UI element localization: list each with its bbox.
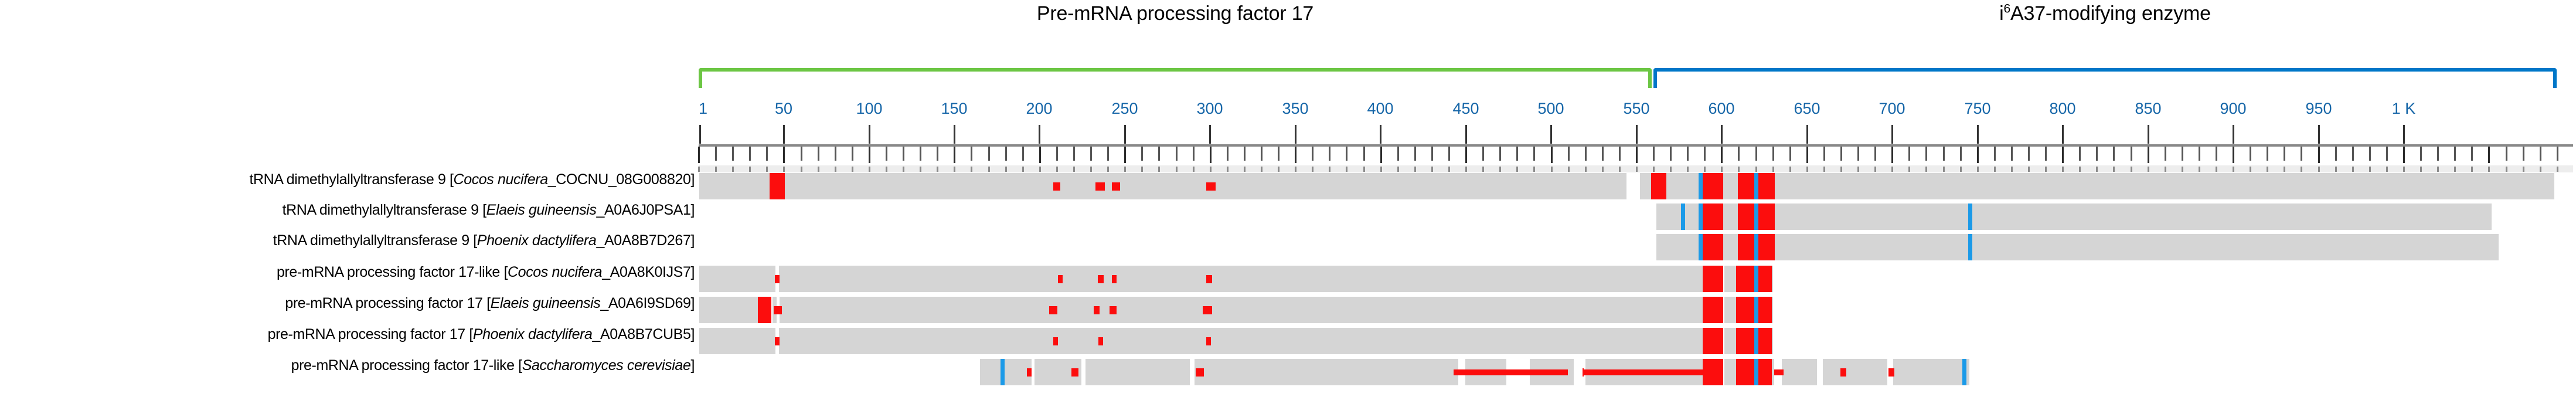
ruler-strip-tick (2045, 167, 2047, 172)
ruler-minor-tick (1227, 147, 1229, 161)
feature-marker[interactable] (1754, 173, 1758, 199)
ruler-major-tick (2148, 125, 2149, 144)
ruler-strip-tick (2352, 167, 2354, 172)
ruler-minor-tick (1193, 147, 1195, 161)
ruler-strip-tick (869, 167, 870, 172)
ruler-major-tick (2062, 125, 2064, 144)
ruler-minor-tick (2216, 147, 2217, 161)
ruler-strip-tick (1005, 167, 1007, 172)
ruler-minor-tick (2506, 147, 2507, 161)
ruler-strip-tick (1329, 167, 1330, 172)
domain-hit-marker[interactable] (1094, 306, 1100, 314)
ruler-minor-tick (2352, 147, 2354, 161)
ruler-minor-tick (852, 147, 853, 161)
sequence-track-6[interactable] (0, 359, 2576, 385)
track-segment[interactable] (699, 266, 775, 292)
ruler-strip-tick (1619, 167, 1621, 172)
ruler-minor-tick (2250, 147, 2251, 161)
ruler-strip-tick (903, 167, 904, 172)
sequence-track-1[interactable] (0, 203, 2576, 230)
feature-marker[interactable] (1754, 234, 1758, 260)
ruler-minor-tick (1738, 147, 1740, 161)
ruler-minor-tick (2131, 147, 2132, 161)
ruler-minor-tick (1499, 147, 1501, 161)
ruler-strip-tick (2250, 167, 2251, 172)
track-segment[interactable] (1085, 359, 1190, 385)
ruler-minor-tick (2045, 147, 2047, 161)
domain-hit-marker[interactable] (1736, 328, 1755, 354)
domain-hit-marker[interactable] (1098, 275, 1104, 283)
ruler-strip-tick (2318, 167, 2320, 172)
feature-marker[interactable] (1968, 234, 1972, 260)
ruler-strip-tick (801, 167, 802, 172)
domain-hit-marker[interactable] (1736, 297, 1755, 323)
track-segment[interactable] (1724, 297, 1737, 323)
sequence-track-0[interactable] (0, 173, 2576, 199)
ruler-strip-tick (1704, 167, 1706, 172)
feature-marker[interactable] (1681, 203, 1685, 230)
ruler-minor-tick (1943, 147, 1945, 161)
ruler-minor-tick (1312, 147, 1313, 161)
ruler-strip-tick (2386, 167, 2388, 172)
ruler-minor-tick (903, 147, 904, 161)
ruler-minor-tick (2062, 147, 2064, 163)
ruler-minor-tick (835, 147, 836, 161)
ruler-minor-tick (2148, 147, 2149, 163)
ruler-strip-tick (835, 167, 836, 172)
ruler-strip-tick (988, 167, 990, 172)
ruler-strip-tick (937, 167, 938, 172)
ruler-tick-label-50: 50 (775, 100, 792, 118)
ruler-minor-tick (1022, 147, 1024, 161)
ruler-tick-label-700: 700 (1879, 100, 1905, 118)
domain-hit-marker[interactable] (1053, 337, 1058, 345)
track-segment[interactable] (1195, 359, 1458, 385)
domain-hit-marker[interactable] (775, 337, 780, 345)
ruler-major-tick (869, 125, 870, 144)
ruler-tick-label-500: 500 (1537, 100, 1564, 118)
ruler-tick-label-550: 550 (1623, 100, 1649, 118)
domain-bracket-prp17[interactable] (699, 68, 1652, 88)
ruler-minor-tick (2403, 147, 2405, 163)
ruler-minor-tick (1823, 147, 1825, 161)
ruler-minor-tick (1653, 147, 1655, 161)
ruler-minor-tick (1465, 147, 1467, 163)
feature-marker[interactable] (1699, 203, 1703, 230)
ruler-minor-tick (1176, 147, 1178, 161)
ruler-minor-tick (1704, 147, 1706, 161)
ruler-minor-tick (2233, 147, 2234, 163)
track-segment[interactable] (699, 328, 775, 354)
ruler-minor-tick (1244, 147, 1246, 161)
ruler-minor-tick (1721, 147, 1723, 163)
ruler-strip-tick (1039, 167, 1041, 172)
ruler-minor-tick (1141, 147, 1143, 161)
ruler-minor-tick (1363, 147, 1365, 161)
ruler-strip-tick (1977, 167, 1979, 172)
ruler-major-tick (699, 125, 701, 144)
ruler-strip-tick (1482, 167, 1484, 172)
ruler-strip-tick (1158, 167, 1160, 172)
ruler-strip-tick (1857, 167, 1859, 172)
ruler-strip-tick (971, 167, 972, 172)
track-connector-line (1774, 369, 1784, 375)
ruler-strip-tick (2267, 167, 2268, 172)
ruler-minor-tick (2471, 147, 2473, 161)
ruler-major-tick (783, 125, 785, 144)
domain-hit-marker[interactable] (1703, 266, 1723, 292)
domain-hit-marker[interactable] (1738, 173, 1755, 199)
ruler-minor-tick (954, 147, 955, 163)
domain-hit-marker[interactable] (1888, 368, 1894, 377)
ruler-strip-tick (1227, 167, 1229, 172)
ruler-strip-tick (715, 167, 717, 172)
domain-hit-marker[interactable] (775, 275, 780, 283)
ruler-tick-label-300: 300 (1196, 100, 1223, 118)
ruler-minor-tick (715, 147, 717, 161)
ruler-strip-tick (1789, 167, 1791, 172)
ruler-strip-tick (1278, 167, 1280, 172)
domain-hit-marker[interactable] (1053, 182, 1060, 191)
feature-marker[interactable] (1968, 203, 1972, 230)
ruler-minor-tick (2540, 147, 2541, 161)
ruler-major-tick (2233, 125, 2234, 144)
domain-hit-marker[interactable] (1049, 306, 1057, 314)
ruler-minor-tick (1124, 147, 1126, 163)
ruler-tick-label-900: 900 (2220, 100, 2246, 118)
domain-hit-marker[interactable] (1583, 368, 1584, 377)
ruler-minor-tick (2011, 147, 2013, 161)
track-connector-line (1454, 369, 1568, 375)
ruler-strip-tick (2471, 167, 2473, 172)
ruler-minor-tick (1482, 147, 1484, 161)
ruler-strip-tick (749, 167, 751, 172)
domain-hit-marker[interactable] (1203, 306, 1212, 314)
ruler-minor-tick (732, 147, 734, 161)
ruler-major-tick (954, 125, 955, 144)
ruler-strip-tick (698, 167, 700, 172)
ruler-strip-tick (1107, 167, 1109, 172)
ruler-minor-tick (2199, 147, 2200, 161)
ruler-strip-tick (1721, 167, 1723, 172)
ruler-minor-tick (1755, 147, 1757, 161)
ruler-tick-label-1: 1 (699, 100, 707, 118)
ruler-minor-tick (988, 147, 990, 161)
ruler-minor-tick (2318, 147, 2320, 163)
ruler-strip-tick (1755, 167, 1757, 172)
ruler-minor-tick (2267, 147, 2268, 161)
ruler-minor-tick (2182, 147, 2183, 161)
ruler-strip-tick (732, 167, 734, 172)
domain-hit-marker[interactable] (1840, 368, 1846, 377)
ruler-strip-tick (1414, 167, 1416, 172)
ruler-minor-tick (1568, 147, 1570, 161)
ruler-strip-tick (766, 167, 768, 172)
track-segment[interactable] (1724, 359, 1737, 385)
ruler-minor-tick (2488, 147, 2490, 163)
ruler-strip-tick (886, 167, 887, 172)
sequence-track-4[interactable] (0, 297, 2576, 323)
ruler-minor-tick (1857, 147, 1859, 161)
ruler-strip-tick (2113, 167, 2115, 172)
ruler-minor-tick (1602, 147, 1604, 161)
ruler-minor-tick (1994, 147, 1996, 161)
track-segment[interactable] (779, 266, 1703, 292)
ruler-strip-tick (1261, 167, 1263, 172)
track-segment[interactable] (1724, 266, 1737, 292)
ruler-minor-tick (1039, 147, 1041, 163)
ruler-strip-tick (1874, 167, 1876, 172)
domain-bracket-i6a37[interactable] (1653, 68, 2557, 88)
ruler-minor-tick (749, 147, 751, 161)
ruler-tick-label-200: 200 (1026, 100, 1052, 118)
ruler-strip-tick (2301, 167, 2302, 172)
domain-hit-marker[interactable] (1027, 368, 1032, 377)
feature-marker[interactable] (1699, 173, 1703, 199)
domain-hit-marker[interactable] (1703, 203, 1723, 230)
ruler-tick-label-600: 600 (1708, 100, 1734, 118)
ruler-strip-tick (1448, 167, 1450, 172)
ruler-minor-tick (2165, 147, 2166, 161)
ruler-tick-label-1K: 1 K (2392, 100, 2416, 118)
track-segment[interactable] (1782, 359, 1817, 385)
ruler-strip-tick (954, 167, 955, 172)
domain-hit-marker[interactable] (1758, 234, 1775, 260)
domain-hit-marker[interactable] (1206, 337, 1211, 345)
ruler-strip-tick (1141, 167, 1143, 172)
ruler-tick-label-750: 750 (1964, 100, 1990, 118)
track-segment[interactable] (1656, 203, 2492, 230)
domain-hit-marker[interactable] (1206, 182, 1216, 191)
ruler-strip-tick (783, 167, 785, 172)
feature-marker[interactable] (1699, 234, 1703, 260)
ruler-minor-tick (1960, 147, 1962, 161)
domain-hit-marker[interactable] (1736, 359, 1755, 385)
ruler-strip-tick (1499, 167, 1501, 172)
ruler-strip-tick (2131, 167, 2132, 172)
ruler-tick-label-800: 800 (2049, 100, 2075, 118)
ruler-strip-tick (1465, 167, 1467, 172)
ruler-tick-label-250: 250 (1111, 100, 1138, 118)
sequence-ruler[interactable]: 1501001502002503003504004505005506006507… (0, 0, 2576, 59)
ruler-minor-tick (1874, 147, 1876, 161)
domain-hit-marker[interactable] (1738, 234, 1755, 260)
ruler-minor-tick (1107, 147, 1109, 161)
ruler-minor-tick (1346, 147, 1347, 161)
ruler-major-tick (1465, 125, 1467, 144)
ruler-strip-tick (2011, 167, 2013, 172)
ruler-strip-tick (1943, 167, 1945, 172)
feature-marker[interactable] (1754, 328, 1758, 354)
domain-hit-marker[interactable] (1703, 173, 1723, 199)
ruler-minor-tick (2420, 147, 2422, 161)
ruler-strip-tick (1925, 167, 1927, 172)
domain-hit-marker[interactable] (1112, 182, 1120, 191)
ruler-strip-tick (2062, 167, 2064, 172)
ruler-strip-tick (1244, 167, 1246, 172)
ruler-strip-tick (1295, 167, 1296, 172)
ruler-strip-tick (1397, 167, 1399, 172)
domain-hit-marker[interactable] (774, 306, 782, 314)
ruler-minor-tick (1261, 147, 1263, 161)
ruler-tick-label-350: 350 (1282, 100, 1308, 118)
track-segment[interactable] (780, 297, 1703, 323)
ruler-strip-tick (2165, 167, 2166, 172)
ruler-minor-tick (2079, 147, 2081, 161)
ruler-minor-tick (2454, 147, 2456, 161)
domain-hit-marker[interactable] (1196, 368, 1204, 377)
ruler-strip-tick (2284, 167, 2285, 172)
track-segment[interactable] (1640, 173, 2554, 199)
domain-hit-marker[interactable] (1071, 368, 1078, 377)
ruler-tick-label-950: 950 (2305, 100, 2332, 118)
ruler-minor-tick (818, 147, 819, 161)
ruler-minor-tick (2113, 147, 2115, 161)
ruler-minor-tick (1516, 147, 1518, 161)
ruler-minor-tick (1278, 147, 1280, 161)
ruler-strip-tick (1363, 167, 1365, 172)
ruler-strip-tick (1806, 167, 1808, 172)
domain-hit-marker[interactable] (1758, 203, 1775, 230)
ruler-strip-tick (1960, 167, 1962, 172)
ruler-strip-tick (2335, 167, 2337, 172)
ruler-minor-tick (1585, 147, 1587, 161)
ruler-minor-tick (2557, 147, 2558, 161)
ruler-strip-tick (1823, 167, 1825, 172)
ruler-minor-tick (1891, 147, 1893, 163)
ruler-strip-tick (2506, 167, 2507, 172)
track-segment[interactable] (1724, 328, 1737, 354)
ruler-minor-tick (1448, 147, 1450, 161)
ruler-minor-tick (971, 147, 972, 161)
ruler-strip-tick (1380, 167, 1382, 172)
domain-hit-marker[interactable] (1098, 337, 1103, 345)
ruler-minor-tick (886, 147, 887, 161)
domain-hit-marker[interactable] (1110, 306, 1117, 314)
ruler-minor-tick (1005, 147, 1007, 161)
ruler-strip-tick (2420, 167, 2422, 172)
ruler-minor-tick (1056, 147, 1058, 161)
ruler-minor-tick (1210, 147, 1212, 163)
ruler-strip-tick (1670, 167, 1672, 172)
ruler-minor-tick (1073, 147, 1075, 161)
feature-marker[interactable] (1754, 297, 1758, 323)
ruler-major-tick (1891, 125, 1893, 144)
ruler-strip-tick (1891, 167, 1893, 172)
ruler-minor-tick (1789, 147, 1791, 161)
ruler-strip-tick (1210, 167, 1212, 172)
track-connector-line (1583, 369, 1703, 375)
ruler-strip-tick (1568, 167, 1570, 172)
ruler-minor-tick (1925, 147, 1927, 161)
ruler-minor-tick (1806, 147, 1808, 163)
domain-hit-marker[interactable] (1651, 173, 1666, 199)
domain-hit-marker[interactable] (1736, 266, 1755, 292)
track-segment[interactable] (781, 173, 1626, 199)
ruler-minor-tick (1295, 147, 1296, 163)
domain-hit-marker[interactable] (1758, 173, 1775, 199)
ruler-strip-tick (1840, 167, 1842, 172)
ruler-minor-tick (2437, 147, 2439, 161)
ruler-minor-tick (1908, 147, 1910, 161)
ruler-tick-label-650: 650 (1794, 100, 1820, 118)
domain-hit-marker[interactable] (1058, 275, 1063, 283)
ruler-strip-tick (2369, 167, 2371, 172)
ruler-major-tick (1380, 125, 1381, 144)
ruler-minor-tick (2386, 147, 2388, 161)
ruler-major-tick (1721, 125, 1723, 144)
track-segment[interactable] (1823, 359, 1887, 385)
ruler-strip-tick (2148, 167, 2149, 172)
feature-marker[interactable] (1001, 359, 1005, 385)
track-segment[interactable] (980, 359, 1032, 385)
ruler-strip-tick (2028, 167, 2030, 172)
ruler-strip-tick (1090, 167, 1092, 172)
ruler-strip-tick (1193, 167, 1195, 172)
ruler-minor-tick (1414, 147, 1416, 161)
track-segment[interactable] (699, 173, 774, 199)
ruler-minor-tick (1329, 147, 1330, 161)
ruler-major-tick (1295, 125, 1296, 144)
domain-hit-marker[interactable] (758, 297, 771, 323)
sequence-track-2[interactable] (0, 234, 2576, 260)
ruler-minor-tick (1158, 147, 1160, 161)
domain-hit-marker[interactable] (1703, 234, 1723, 260)
domain-hit-marker[interactable] (1703, 359, 1723, 385)
ruler-strip-tick (2540, 167, 2541, 172)
domain-hit-marker[interactable] (1206, 275, 1212, 283)
ruler-minor-tick (1431, 147, 1433, 161)
domain-hit-marker[interactable] (1703, 328, 1723, 354)
feature-marker[interactable] (1962, 359, 1966, 385)
domain-hit-marker[interactable] (1703, 297, 1723, 323)
ruler-strip-tick (2199, 167, 2200, 172)
domain-hit-marker[interactable] (770, 173, 785, 199)
ruler-strip-tick (2079, 167, 2081, 172)
ruler-strip-tick (1124, 167, 1126, 172)
domain-hit-marker[interactable] (1738, 203, 1755, 230)
sequence-track-5[interactable] (0, 328, 2576, 354)
ruler-strip-tick (2403, 167, 2405, 172)
track-segment[interactable] (1893, 359, 1969, 385)
ruler-strip-tick (1431, 167, 1433, 172)
ruler-strip-tick (1073, 167, 1075, 172)
ruler-major-tick (1636, 125, 1638, 144)
track-segment[interactable] (1656, 234, 2499, 260)
ruler-minor-tick (1551, 147, 1553, 163)
ruler-minor-tick (801, 147, 802, 161)
ruler-minor-tick (2301, 147, 2302, 161)
sequence-track-3[interactable] (0, 266, 2576, 292)
domain-hit-marker[interactable] (1095, 182, 1105, 191)
feature-marker[interactable] (1754, 203, 1758, 230)
ruler-major-tick (1209, 125, 1211, 144)
domain-hit-marker[interactable] (1112, 275, 1117, 283)
ruler-minor-tick (1670, 147, 1672, 161)
track-segment[interactable] (779, 328, 1703, 354)
ruler-strip-tick (1602, 167, 1604, 172)
ruler-strip-tick (1176, 167, 1178, 172)
feature-marker[interactable] (1754, 266, 1758, 292)
ruler-minor-tick (2096, 147, 2098, 161)
ruler-strip-tick (2437, 167, 2439, 172)
ruler-strip-tick (2182, 167, 2183, 172)
feature-marker[interactable] (1754, 359, 1758, 385)
ruler-tick-label-400: 400 (1367, 100, 1393, 118)
ruler-strip-tick (2216, 167, 2217, 172)
ruler-tick-label-100: 100 (856, 100, 882, 118)
ruler-minor-tick (1772, 147, 1774, 161)
